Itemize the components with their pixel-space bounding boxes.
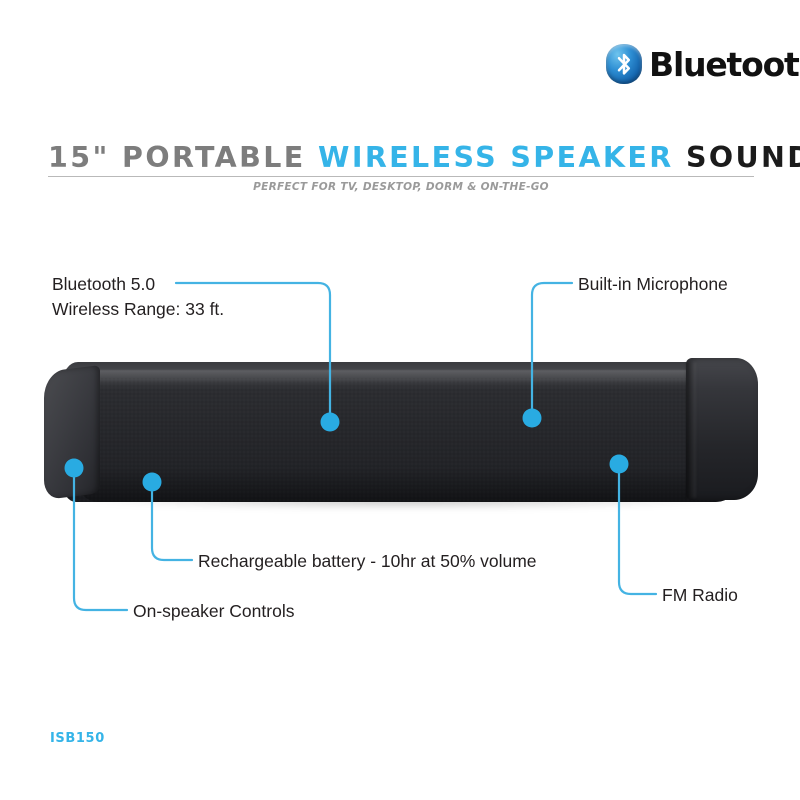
soundbar-left-endcap (44, 365, 100, 500)
bluetooth-wordmark-text: Bluetooth (649, 45, 800, 84)
soundbar-right-endcap (686, 358, 758, 500)
headline-segment-soundbar: SOUND BAR (686, 141, 800, 174)
soundbar-right-edge-highlight (686, 362, 696, 498)
headline-divider (48, 176, 754, 177)
headline-segment-size: 15" PORTABLE (48, 141, 306, 174)
callout-label-bluetooth: Bluetooth 5.0 Wireless Range: 33 ft. (52, 272, 224, 323)
callout-label-microphone: Built-in Microphone (578, 272, 728, 297)
headline-segment-wireless: WIRELESS SPEAKER (318, 141, 674, 174)
soundbar-front-shading (78, 468, 738, 502)
page-subtitle: PERFECT FOR TV, DESKTOP, DORM & ON-THE-G… (48, 181, 754, 193)
soundbar-body (62, 362, 738, 502)
callout-bluetooth-line2: Wireless Range: 33 ft. (52, 297, 224, 322)
soundbar-image (44, 352, 758, 512)
page-title: 15" PORTABLE WIRELESS SPEAKER SOUND BAR (48, 144, 754, 173)
product-infographic: Bluetooth® 15" PORTABLE WIRELESS SPEAKER… (0, 0, 800, 800)
callout-label-controls: On-speaker Controls (133, 599, 294, 624)
bluetooth-icon (606, 44, 642, 84)
callout-label-fm-radio: FM Radio (662, 583, 738, 608)
bluetooth-logo: Bluetooth® (606, 44, 800, 84)
soundbar-top-bevel (70, 370, 730, 383)
callout-bluetooth-line1: Bluetooth 5.0 (52, 272, 224, 297)
callout-label-battery: Rechargeable battery - 10hr at 50% volum… (198, 549, 537, 574)
bluetooth-wordmark: Bluetooth® (649, 48, 800, 81)
model-number: ISB150 (50, 731, 105, 746)
